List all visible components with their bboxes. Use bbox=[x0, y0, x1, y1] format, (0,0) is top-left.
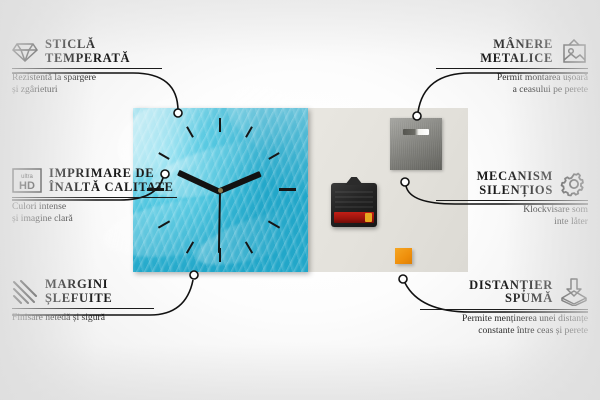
callout-sticla-temperata: STICLĂ TEMPERATĂ Rezistentă la spargere … bbox=[12, 38, 162, 95]
svg-text:HD: HD bbox=[19, 180, 35, 192]
ultra-hd-icon: ultra HD bbox=[12, 168, 42, 193]
callout-rule bbox=[436, 200, 588, 201]
callout-title: STICLĂ TEMPERATĂ bbox=[45, 38, 130, 65]
gear-icon bbox=[560, 171, 588, 197]
callout-rule bbox=[420, 309, 588, 310]
callout-title: DISTANȚIER SPUMĂ bbox=[469, 279, 553, 306]
callout-title: MARGINI ȘLEFUITE bbox=[45, 278, 112, 305]
callout-imprimare-calitate: ultra HD IMPRIMARE DE ÎNALTĂ CALITATE Cu… bbox=[12, 167, 177, 224]
callout-rule bbox=[436, 68, 588, 69]
callout-rule bbox=[12, 68, 162, 69]
diamond-icon bbox=[12, 40, 38, 64]
callout-rule bbox=[12, 197, 177, 198]
callout-margini-slefuite: MARGINI ȘLEFUITE Finisare netedă și sigu… bbox=[12, 278, 154, 324]
callout-subtitle: Culori intense și imagine clară bbox=[12, 201, 177, 224]
diagonal-stripes-icon bbox=[12, 280, 38, 304]
picture-frame-hanger-icon bbox=[560, 39, 588, 65]
infographic-canvas: STICLĂ TEMPERATĂ Rezistentă la spargere … bbox=[0, 0, 600, 400]
callout-subtitle: Finisare netedă și sigură bbox=[12, 312, 154, 324]
callout-rule bbox=[12, 308, 154, 309]
arrow-down-layers-icon bbox=[560, 278, 588, 306]
callout-subtitle: Permite menținerea unei distanțe constan… bbox=[420, 313, 588, 336]
callout-manere-metalice: MÂNERE METALICE Permit montarea ușoară a… bbox=[436, 38, 588, 95]
callout-distantier-spuma: DISTANȚIER SPUMĂ Permite menținerea unei… bbox=[420, 278, 588, 336]
callout-mecanism-silentios: MECANISM SILENȚIOS Klockvisare som inte … bbox=[436, 170, 588, 227]
callout-subtitle: Rezistentă la spargere și zgârieturi bbox=[12, 72, 162, 95]
callout-subtitle: Klockvisare som inte låter bbox=[436, 204, 588, 227]
callout-title: MÂNERE METALICE bbox=[480, 38, 553, 65]
callout-subtitle: Permit montarea ușoară a ceasului pe per… bbox=[436, 72, 588, 95]
callout-title: IMPRIMARE DE ÎNALTĂ CALITATE bbox=[49, 167, 174, 194]
callout-title: MECANISM SILENȚIOS bbox=[477, 170, 553, 197]
